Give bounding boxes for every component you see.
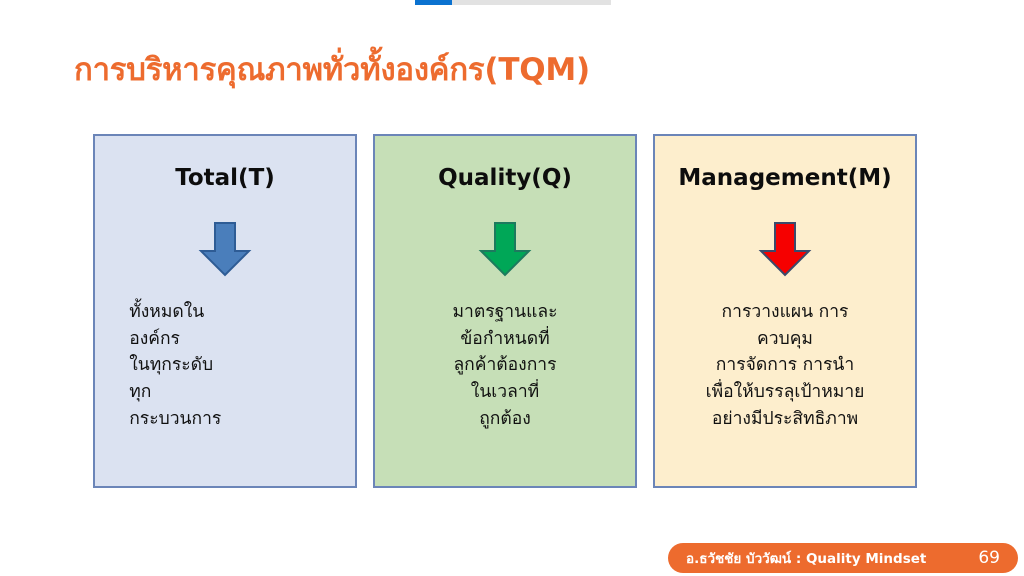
footer-badge: อ.ธวัชชัย บัววัฒน์ : Quality Mindset 69 — [668, 543, 1018, 573]
card-management-line: การวางแผน การ — [673, 299, 897, 326]
card-quality-line: ถูกต้อง — [393, 406, 617, 433]
card-total-line: ทั้งหมดใน — [129, 299, 337, 326]
card-total-line: องค์กร — [129, 326, 337, 353]
card-management-line: อย่างมีประสิทธิภาพ — [673, 406, 897, 433]
slide-progress-bar[interactable] — [415, 0, 611, 5]
card-quality: Quality(Q) มาตรฐานและ ข้อกำหนดที่ ลูกค้า… — [373, 134, 637, 488]
down-arrow-icon — [478, 221, 532, 277]
card-management-title: Management(M) — [678, 166, 891, 191]
card-management-body: การวางแผน การ ควบคุม การจัดการ การนำ เพื… — [673, 299, 897, 432]
card-total-body: ทั้งหมดใน องค์กร ในทุกระดับ ทุก กระบวนกา… — [113, 299, 337, 432]
card-management-line: การจัดการ การนำ — [673, 352, 897, 379]
card-management-line: ควบคุม — [673, 326, 897, 353]
page-title: การบริหารคุณภาพทั่วทั้งองค์กร(TQM) — [74, 44, 590, 94]
card-management-line: เพื่อให้บรรลุเป้าหมาย — [673, 379, 897, 406]
footer-author-label: อ.ธวัชชัย บัววัฒน์ : Quality Mindset — [686, 547, 926, 569]
card-total-line: กระบวนการ — [129, 406, 337, 433]
card-quality-line: มาตรฐานและ — [393, 299, 617, 326]
card-total-title: Total(T) — [175, 166, 275, 191]
card-quality-line: ลูกค้าต้องการ — [393, 352, 617, 379]
card-quality-title: Quality(Q) — [438, 166, 572, 191]
down-arrow-icon — [198, 221, 252, 277]
slide-progress-fill — [415, 0, 452, 5]
card-quality-body: มาตรฐานและ ข้อกำหนดที่ ลูกค้าต้องการ ในเ… — [393, 299, 617, 432]
card-quality-line: ในเวลาที่ — [393, 379, 617, 406]
card-total: Total(T) ทั้งหมดใน องค์กร ในทุกระดับ ทุก… — [93, 134, 357, 488]
page-number: 69 — [978, 548, 1000, 568]
card-total-line: ในทุกระดับ — [129, 352, 337, 379]
card-management: Management(M) การวางแผน การ ควบคุม การจั… — [653, 134, 917, 488]
down-arrow-icon — [758, 221, 812, 277]
card-total-line: ทุก — [129, 379, 337, 406]
card-quality-line: ข้อกำหนดที่ — [393, 326, 617, 353]
tqm-card-row: Total(T) ทั้งหมดใน องค์กร ในทุกระดับ ทุก… — [93, 134, 917, 488]
